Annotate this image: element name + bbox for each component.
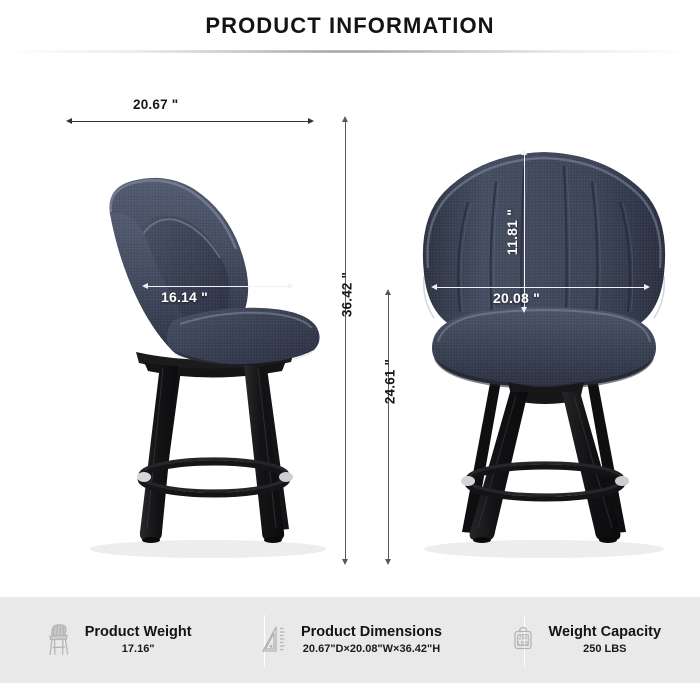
weight-250lbs-icon: 250 LBS: [506, 620, 540, 660]
bar-stool-icon: [42, 620, 76, 660]
spec-value: 250 LBS: [583, 643, 626, 656]
spec-weight-capacity: 250 LBS Weight Capacity 250 LBS: [467, 620, 700, 660]
spec-title: Product Dimensions: [301, 624, 442, 641]
weight-icon-bottom-text: LBS: [517, 641, 528, 647]
dim-seat-depth-label: 16.14 ": [161, 289, 208, 305]
page-title: PRODUCT INFORMATION: [205, 13, 494, 39]
page-header: PRODUCT INFORMATION: [0, 0, 700, 52]
spec-product-dimensions: Product Dimensions 20.67"D×20.08"W×36.42…: [233, 620, 466, 660]
dim-overall-height-label: 36.42 ": [340, 265, 355, 325]
set-square-ruler-icon: [258, 620, 292, 660]
dim-seat-width-label: 20.08 ": [493, 290, 540, 306]
spec-title: Weight Capacity: [549, 624, 662, 641]
dim-overall-depth-label: 20.67 ": [133, 97, 178, 112]
dim-seat-height-label: 24.61 ": [383, 352, 398, 412]
spec-product-weight: Product Weight 17.16": [0, 620, 233, 660]
chair-side-view: [48, 62, 378, 562]
spec-value: 17.16": [122, 643, 155, 656]
product-diagram-stage: 20.67 " 16.14 " 36.42 " 24.61 ": [0, 52, 700, 597]
spec-title: Product Weight: [85, 624, 192, 641]
spec-footer: Product Weight 17.16" Product Dimensions…: [0, 597, 700, 683]
spec-value: 20.67"D×20.08"W×36.42"H: [303, 643, 440, 656]
chair-front-view: [398, 62, 688, 562]
dim-backrest-height-label: 11.81 ": [504, 201, 520, 263]
